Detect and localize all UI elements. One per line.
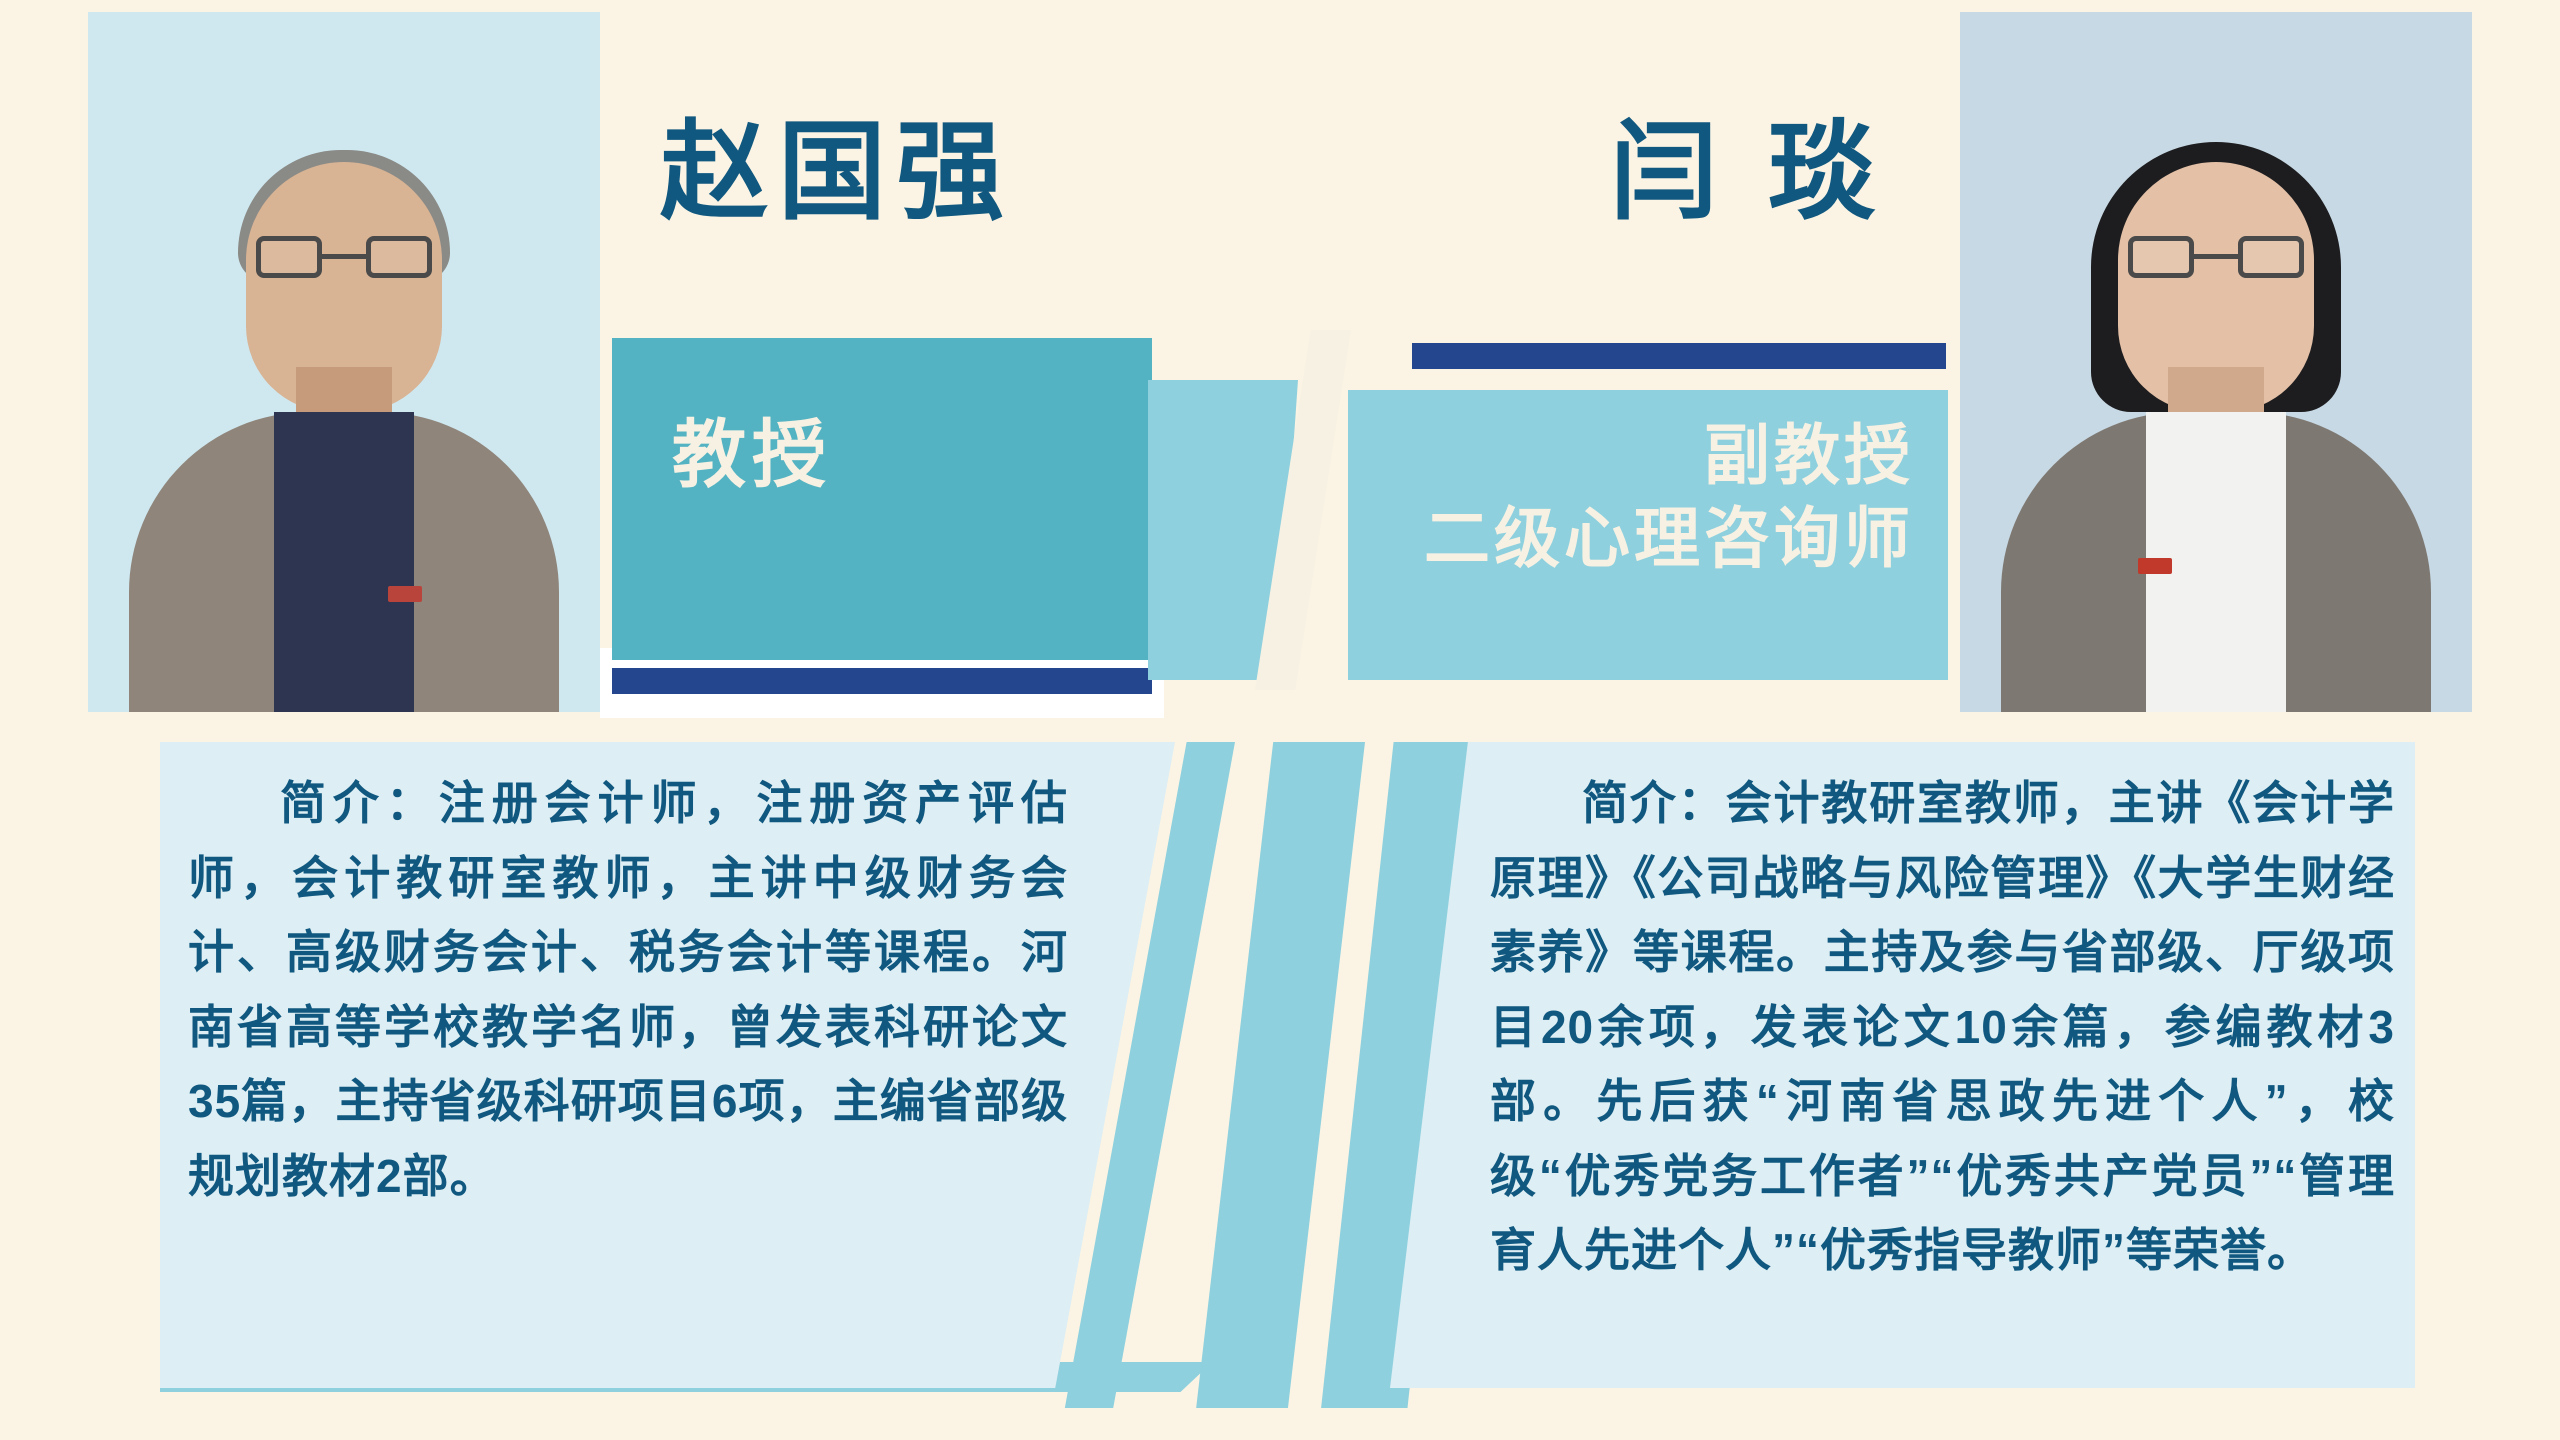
left-bio-text: 简介：注册会计师，注册资产评估师，会计教研室教师，主讲中级财务会计、高级财务会计…	[188, 766, 1068, 1213]
portrait-badge-icon	[388, 586, 422, 602]
right-bio-text: 简介：会计教研室教师，主讲《会计学原理》《公司战略与风险管理》《大学生财经素养》…	[1490, 766, 2395, 1288]
right-role-line-2: 二级心理咨询师	[1348, 497, 1914, 580]
portrait-glasses-icon	[2128, 236, 2304, 282]
left-role-panel	[612, 338, 1152, 660]
right-role-line-1: 副教授	[1348, 414, 1914, 497]
avatar	[88, 12, 600, 712]
left-accent-bar	[612, 668, 1152, 694]
portrait-shirt-icon	[274, 412, 414, 712]
bottom-page-margin	[0, 1408, 2560, 1440]
page-title: 闫 琰	[1610, 118, 1886, 226]
right-accent-bar	[1412, 343, 1946, 369]
right-role-labels: 副教授 二级心理咨询师	[1348, 414, 1914, 580]
portrait-badge-icon	[2138, 558, 2172, 574]
slide-canvas: 赵国强 教授 闫 琰 副教授 二级心理咨询师 简介：注册会计师，注册资产评估师，…	[0, 0, 2560, 1440]
portrait-glasses-icon	[256, 236, 432, 282]
left-role-label: 教授	[672, 418, 832, 492]
left-page-margin	[0, 0, 88, 1440]
avatar	[1960, 12, 2472, 712]
page-title: 赵国强	[660, 118, 1014, 226]
